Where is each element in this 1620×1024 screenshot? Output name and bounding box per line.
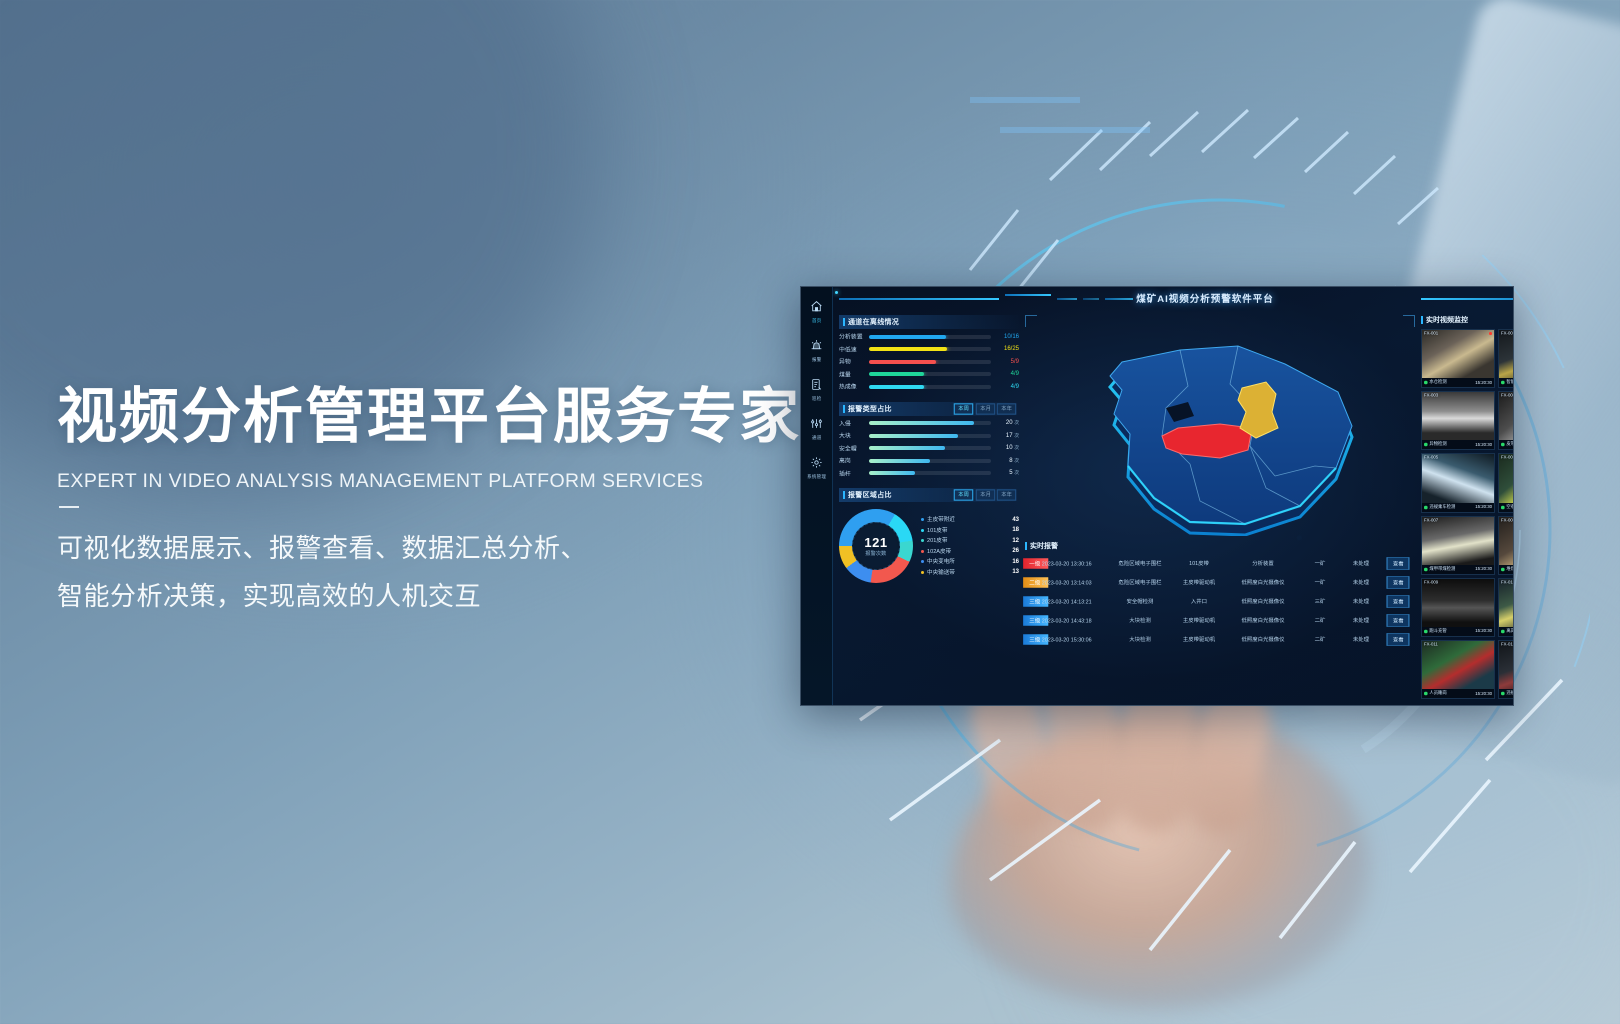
alarm-type-row: 入侵20 次 — [839, 420, 1019, 427]
donut-legend-item: 102A皮带26 — [921, 548, 1019, 555]
gear-icon — [810, 456, 823, 474]
donut-legend-item: 201皮带12 — [921, 537, 1019, 544]
donut-center-label: 报警次数 — [865, 550, 886, 557]
donut-legend-item: 主皮带附近43 — [921, 516, 1019, 523]
camera-tile[interactable]: FX-010离岗检测15:20:30 — [1498, 578, 1515, 637]
camera-label: 堆煤检测 — [1506, 566, 1514, 572]
camera-id: FX-009 — [1424, 580, 1438, 585]
alarm-type-value: 5 次 — [990, 469, 1019, 476]
online-dot — [1501, 381, 1504, 384]
alarm-type-title: 报警类型占比 — [848, 404, 892, 414]
camera-label: 跑斗充管 — [1429, 628, 1446, 634]
online-dot — [1424, 443, 1427, 446]
legend-color-dot — [921, 560, 924, 563]
alarm-type-row: 插杆5 次 — [839, 470, 1019, 477]
camera-tile[interactable]: FX-009跑斗充管15:20:30 — [1421, 578, 1495, 637]
camera-label: 违规乘车检测 — [1429, 504, 1455, 510]
camera-tile[interactable]: FX-003异物检测15:20:30 — [1421, 391, 1495, 450]
alarm-type-progress-track — [869, 471, 991, 475]
camera-feed — [1499, 517, 1515, 565]
sidebar-item-3[interactable]: 巡检 — [810, 378, 823, 402]
camera-feed — [1499, 454, 1515, 502]
channel-progress-track — [869, 347, 991, 351]
channel-status-row: 异物5/9 — [839, 358, 1019, 365]
hero-copy: 视频分析管理平台服务专家 EXPERT IN VIDEO ANALYSIS MA… — [57, 382, 817, 620]
online-dot — [1501, 692, 1504, 695]
legend-color-dot — [921, 539, 924, 542]
camera-id: FX-012 — [1501, 642, 1515, 647]
online-dot — [1501, 506, 1504, 509]
channel-progress-track — [869, 335, 991, 339]
alarm-area-tab[interactable]: 本月 — [975, 489, 995, 501]
channel-status-row: 热成像4/9 — [839, 383, 1019, 390]
recording-indicator — [1489, 332, 1492, 335]
alarm-type-row: 安全帽10 次 — [839, 445, 1019, 452]
legend-color-dot — [921, 529, 924, 532]
camera-tile[interactable]: FX-001水仓检测15:20:30 — [1421, 329, 1495, 388]
sidebar-item-label: 报警 — [812, 357, 821, 363]
camera-time: 15:20:30 — [1475, 380, 1492, 385]
realtime-alarm-panel: 实时报警 一级2023-03-20 13:30:16危险区域电子围栏101皮带分… — [1025, 541, 1415, 699]
sidebar-item-label: 巡检 — [812, 396, 821, 402]
camera-tile[interactable]: FX-011人员睡岗15:20:30 — [1421, 640, 1495, 699]
camera-tile[interactable]: FX-007煤甲带煤检测15:20:30 — [1421, 516, 1495, 575]
legend-label: 101皮带 — [927, 526, 1022, 534]
channel-value: 5/9 — [990, 358, 1019, 365]
alarm-area-title: 报警区域占比 — [848, 490, 892, 500]
camera-id: FX-011 — [1424, 642, 1438, 647]
camera-time: 15:20:30 — [1475, 505, 1492, 510]
camera-id: FX-004 — [1501, 393, 1515, 398]
alarm-area-panel: 报警区域占比 本周本月本年 121 报警次数 主皮带附近43101皮带18201… — [839, 488, 1019, 583]
alarm-action[interactable]: 查看 — [1378, 633, 1418, 646]
camera-tile[interactable]: FX-004皮带检测15:20:30 — [1498, 391, 1515, 450]
sidebar-item-5[interactable]: 系统管理 — [809, 456, 824, 480]
channel-value: 16/25 — [990, 345, 1019, 352]
camera-feed — [1499, 330, 1515, 378]
sidebar-item-label: 首页 — [812, 318, 821, 324]
alarm-type-tab[interactable]: 本周 — [954, 403, 974, 415]
channel-name: 异物 — [839, 357, 870, 365]
camera-id: FX-002 — [1501, 331, 1515, 336]
alarm-type-name: 入侵 — [839, 419, 870, 427]
camera-feed — [1422, 392, 1494, 440]
camera-label: 智能识别检测 — [1506, 380, 1514, 386]
alarm-device: 低照度白光摄像仪 — [1221, 598, 1305, 605]
camera-id: FX-010 — [1501, 580, 1515, 585]
alarm-action[interactable]: 查看 — [1378, 557, 1418, 570]
online-dot — [1501, 568, 1504, 571]
camera-tile[interactable]: FX-005违规乘车检测15:20:30 — [1421, 453, 1495, 512]
channel-progress-track — [869, 360, 991, 364]
alarm-device: 分析装置 — [1221, 560, 1305, 567]
legend-label: 主皮带附近 — [927, 516, 1022, 524]
dashboard-sidebar: 首页报警巡检通道系统管理 — [801, 287, 833, 705]
donut-legend-item: 101皮带18 — [921, 527, 1019, 534]
alarm-type-progress-track — [869, 459, 991, 463]
camera-label: 人员睡岗 — [1429, 691, 1446, 697]
legend-color-dot — [921, 518, 924, 521]
camera-id: FX-006 — [1501, 455, 1515, 460]
alarm-action[interactable]: 查看 — [1378, 614, 1418, 627]
online-dot — [1501, 630, 1504, 633]
camera-id: FX-007 — [1424, 518, 1438, 523]
alarm-type-name: 大块 — [839, 431, 870, 439]
channel-status-panel: 通道在离线情况 分析装置10/16中低速16/25异物5/9煤量4/9热成像4/… — [839, 315, 1019, 396]
legend-label: 201皮带 — [927, 537, 1022, 545]
donut-legend-item: 中央输送带13 — [921, 569, 1019, 576]
online-dot — [1424, 568, 1427, 571]
channel-status-row: 分析装置10/16 — [839, 333, 1019, 340]
alarm-area-tabs[interactable]: 本周本月本年 — [955, 490, 1015, 500]
alarm-type-value: 17 次 — [990, 432, 1019, 439]
camera-feed — [1499, 641, 1515, 689]
dashboard-monitor: 首页报警巡检通道系统管理 煤矿AI视频分析预警软件平台 — [800, 286, 1514, 706]
channel-progress-track — [869, 372, 991, 376]
donut-legend: 主皮带附近43101皮带18201皮带12102A皮带26中央变电所16中央输送… — [919, 516, 1019, 576]
alarm-type-tabs[interactable]: 本周本月本年 — [955, 404, 1015, 414]
donut-legend-item: 中央变电所16 — [921, 558, 1019, 565]
sidebar-item-label: 系统管理 — [807, 474, 826, 480]
dashboard-title: 煤矿AI视频分析预警软件平台 — [833, 291, 1514, 305]
channel-name: 煤量 — [839, 370, 870, 378]
camera-label: 违规行为检测 — [1506, 691, 1514, 697]
alarm-icon — [810, 339, 823, 357]
channel-value: 4/9 — [990, 370, 1019, 377]
camera-label: 水仓检测 — [1429, 380, 1446, 386]
channel-panel-title: 通道在离线情况 — [848, 317, 899, 327]
alarm-type-progress-track — [869, 446, 991, 450]
camera-time: 15:20:30 — [1475, 691, 1492, 696]
page-title: 视频分析管理平台服务专家 — [57, 382, 817, 452]
channel-value: 4/9 — [990, 383, 1019, 390]
legend-color-dot — [921, 550, 924, 553]
channel-name: 分析装置 — [839, 332, 870, 340]
inspection-icon — [810, 378, 823, 396]
alarm-device: 低照度白光摄像仪 — [1221, 617, 1305, 624]
camera-tile[interactable]: FX-008堆煤检测15:20:30 — [1498, 516, 1515, 575]
hero-desc-line2: 智能分析决策，实现高效的人机交互 — [57, 572, 817, 620]
legend-color-dot — [921, 571, 924, 574]
hero-subtitle: EXPERT IN VIDEO ANALYSIS MANAGEMENT PLAT… — [57, 470, 817, 493]
alarm-type-unit: 次 — [1014, 457, 1019, 463]
channel-name: 热成像 — [839, 382, 870, 390]
alarm-type-panel: 报警类型占比 本周本月本年 入侵20 次大块17 次安全帽10 次离岗8 次插杆… — [839, 402, 1019, 483]
online-dot — [1424, 692, 1427, 695]
camera-feed — [1422, 579, 1494, 627]
table-row[interactable]: 三级2023-03-20 15:30:06大块检测主皮带驱动机低照度白光摄像仪二… — [1025, 630, 1415, 649]
alarm-type-value: 10 次 — [990, 444, 1019, 451]
video-panel-title: 实时视频监控 — [1426, 315, 1468, 325]
alarm-table-title: 实时报警 — [1030, 541, 1058, 551]
online-dot — [1424, 506, 1427, 509]
alarm-type-tab[interactable]: 本月 — [975, 403, 995, 415]
alarm-area-tab[interactable]: 本周 — [954, 489, 974, 501]
camera-label: 煤甲带煤检测 — [1429, 566, 1455, 572]
legend-label: 中央变电所 — [927, 558, 1022, 566]
alarm-device: 低照度白光摄像仪 — [1221, 579, 1305, 586]
table-row[interactable]: 三级2023-03-20 14:13:21安全帽检测入井口低照度白光摄像仪三矿未… — [1025, 592, 1415, 611]
table-row[interactable]: 二级2023-03-20 13:14:03危险区域电子围栏主皮带驱动机低照度白光… — [1025, 573, 1415, 592]
legend-label: 中央输送带 — [927, 568, 1022, 576]
alarm-type-unit: 次 — [1014, 432, 1019, 438]
alarm-type-row: 大块17 次 — [839, 432, 1019, 439]
camera-time: 15:20:30 — [1475, 442, 1492, 447]
region-map[interactable] — [1025, 315, 1415, 537]
sidebar-item-label: 通道 — [812, 435, 821, 441]
online-dot — [1501, 443, 1504, 446]
channel-value: 10/16 — [990, 333, 1019, 340]
channel-name: 中低速 — [839, 345, 870, 353]
camera-feed — [1422, 330, 1494, 378]
alarm-type-progress-track — [869, 421, 991, 425]
camera-label: 空巷积水检测 — [1506, 504, 1514, 510]
alarm-type-name: 离岗 — [839, 456, 870, 464]
camera-id: FX-005 — [1424, 455, 1438, 460]
sidebar-item-2[interactable]: 报警 — [810, 339, 823, 363]
alarm-area-tab[interactable]: 本年 — [997, 489, 1017, 501]
sidebar-item-1[interactable]: 首页 — [810, 300, 823, 324]
alarm-type-unit: 次 — [1014, 444, 1019, 450]
alarm-type-name: 插杆 — [839, 469, 870, 477]
alarm-action[interactable]: 查看 — [1378, 576, 1418, 589]
camera-label: 离岗检测 — [1506, 628, 1514, 634]
online-dot — [1424, 630, 1427, 633]
table-row[interactable]: 三级2023-03-20 14:43:18大块检测主皮带驱动机低照度白光摄像仪二… — [1025, 611, 1415, 630]
camera-label: 异物检测 — [1429, 442, 1446, 448]
alarm-area-donut-chart: 121 报警次数 — [839, 509, 913, 583]
camera-tile[interactable]: FX-012违规行为检测15:20:30 — [1498, 640, 1515, 699]
camera-label: 皮带检测 — [1506, 442, 1514, 448]
channel-status-row: 煤量4/9 — [839, 371, 1019, 378]
camera-feed — [1422, 641, 1494, 689]
channel-status-row: 中低速16/25 — [839, 346, 1019, 353]
alarm-type-value: 20 次 — [990, 419, 1019, 426]
camera-feed — [1499, 392, 1515, 440]
camera-time: 15:20:30 — [1475, 629, 1492, 634]
alarm-type-name: 安全帽 — [839, 444, 870, 452]
alarm-device: 低照度白光摄像仪 — [1221, 636, 1305, 643]
home-icon — [810, 300, 823, 318]
legend-label: 102A皮带 — [927, 547, 1022, 555]
video-surveillance-panel: 实时视频监控 上一页 下一页 FX-001水仓检测15:20:30FX-002智… — [1421, 315, 1514, 699]
online-dot — [1424, 381, 1427, 384]
camera-time: 15:20:30 — [1475, 567, 1492, 572]
donut-center-value: 121 — [864, 535, 887, 550]
alarm-action[interactable]: 查看 — [1378, 595, 1418, 608]
camera-id: FX-008 — [1501, 518, 1515, 523]
camera-feed — [1499, 579, 1515, 627]
alarm-type-value: 8 次 — [990, 457, 1019, 464]
table-row[interactable]: 一级2023-03-20 13:30:16危险区域电子围栏101皮带分析装置一矿… — [1025, 554, 1415, 573]
alarm-type-unit: 次 — [1014, 419, 1019, 425]
camera-tile[interactable]: FX-002智能识别检测15:20:30 — [1498, 329, 1515, 388]
alarm-type-row: 离岗8 次 — [839, 457, 1019, 464]
camera-tile[interactable]: FX-006空巷积水检测15:20:30 — [1498, 453, 1515, 512]
alarm-type-unit: 次 — [1014, 469, 1019, 475]
camera-id: FX-001 — [1424, 331, 1438, 336]
alarm-type-progress-track — [869, 434, 991, 438]
camera-feed — [1422, 517, 1494, 565]
dashboard-header: 煤矿AI视频分析预警软件平台 — [833, 287, 1514, 313]
channel-icon — [810, 417, 823, 435]
camera-feed — [1422, 454, 1494, 502]
alarm-type-tab[interactable]: 本年 — [997, 403, 1017, 415]
channel-progress-track — [869, 385, 991, 389]
camera-id: FX-003 — [1424, 393, 1438, 398]
sidebar-item-4[interactable]: 通道 — [810, 417, 823, 441]
divider — [59, 506, 79, 508]
hero-desc-line1: 可视化数据展示、报警查看、数据汇总分析、 — [57, 524, 817, 572]
